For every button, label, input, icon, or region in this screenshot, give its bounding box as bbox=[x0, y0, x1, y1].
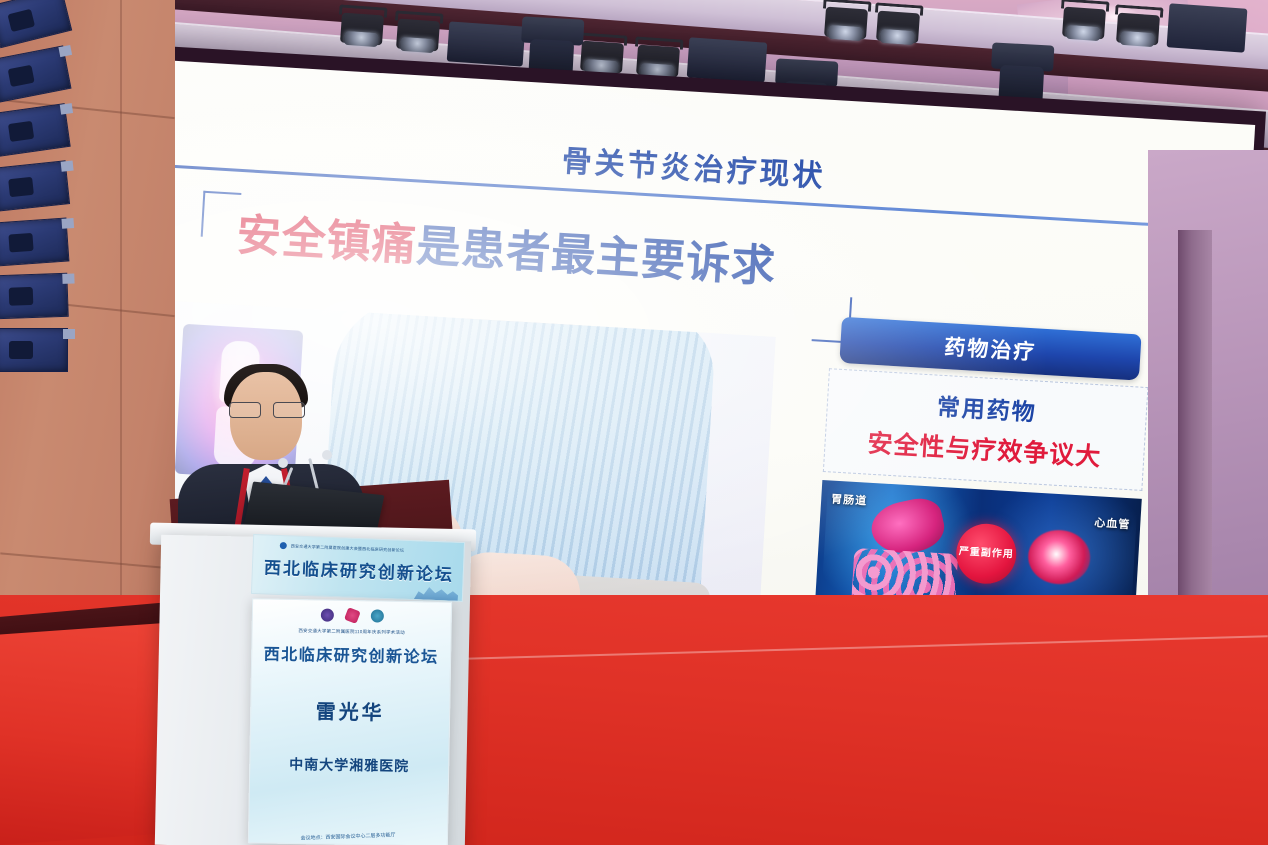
line-array-speaker bbox=[0, 0, 80, 416]
speaker-cabinet bbox=[0, 217, 69, 266]
speaker-cabinet bbox=[0, 273, 69, 320]
namecard-speaker-name: 雷光华 bbox=[251, 694, 449, 726]
slide-title: 安全镇痛是患者最主要诉求 bbox=[235, 199, 778, 295]
podium-banner-logos: 西安交通大学第二附属医院创建大会暨西北临床研究创新论坛 bbox=[280, 541, 440, 556]
speaker-cabinet bbox=[0, 328, 68, 372]
podium-area: 西安交通大学第二附属医院创建大会暨西北临床研究创新论坛 西北临床研究创新论坛 西… bbox=[150, 370, 480, 845]
namecard-subtitle: 西安交通大学第二附属医院110周年庆系列学术活动 bbox=[253, 627, 451, 636]
namecard-venue-line: 会议地点：西安国际会议中心二层多功能厅 bbox=[249, 830, 447, 844]
sponsor-logo-icon bbox=[343, 607, 360, 624]
organizer-logo-icon bbox=[320, 608, 333, 621]
title-bracket-top-left bbox=[201, 191, 242, 239]
namecard-affiliation: 中南大学湘雅医院 bbox=[250, 753, 448, 776]
speaker-cabinet bbox=[0, 103, 71, 157]
fixture-housing bbox=[687, 37, 768, 82]
podium-banner: 西安交通大学第二附属医院创建大会暨西北临床研究创新论坛 西北临床研究创新论坛 bbox=[251, 534, 465, 602]
par-can-light bbox=[1056, 0, 1111, 48]
speaker-cabinet bbox=[0, 45, 72, 102]
anatomy-label-cv: 心血管 bbox=[1094, 514, 1131, 532]
par-can-light bbox=[870, 2, 925, 52]
wall-seam bbox=[0, 552, 175, 569]
podium-banner-title: 西北临床研究创新论坛 bbox=[253, 553, 466, 586]
podium-banner-microtext: 西安交通大学第二附属医院创建大会暨西北临床研究创新论坛 bbox=[291, 543, 405, 553]
fixture-housing bbox=[1167, 3, 1248, 52]
speaker-name-card: 西安交通大学第二附属医院110周年庆系列学术活动 西北临床研究创新论坛 雷光华 … bbox=[248, 598, 452, 845]
microphone-head bbox=[322, 450, 332, 460]
microphone-head bbox=[278, 458, 288, 468]
speaker-cabinet bbox=[0, 160, 70, 211]
par-can-light bbox=[334, 4, 389, 54]
panel-dashed-box: 常用药物 安全性与疗效争议大 bbox=[823, 368, 1149, 491]
anatomy-label-gi: 胃肠道 bbox=[831, 491, 868, 509]
namecard-logo-row bbox=[253, 607, 451, 623]
slide-title-emphasis: 安全镇痛 bbox=[235, 210, 418, 272]
par-can-light bbox=[818, 0, 873, 48]
slide-title-rest: 是患者最主要诉求 bbox=[415, 221, 777, 293]
speaker-cabinet bbox=[0, 0, 72, 48]
fixture-housing bbox=[447, 21, 526, 66]
namecard-forum-title: 西北临床研究创新论坛 bbox=[252, 640, 450, 667]
organizer-logo-icon bbox=[280, 542, 287, 549]
par-can-light bbox=[390, 10, 445, 60]
partner-logo-icon bbox=[370, 609, 383, 622]
glasses-icon bbox=[229, 402, 305, 416]
conference-stage-photo: 骨关节炎治疗现状 安全镇痛是患者最主要诉求 药物治疗 bbox=[0, 0, 1268, 845]
par-can-light bbox=[1110, 4, 1165, 54]
